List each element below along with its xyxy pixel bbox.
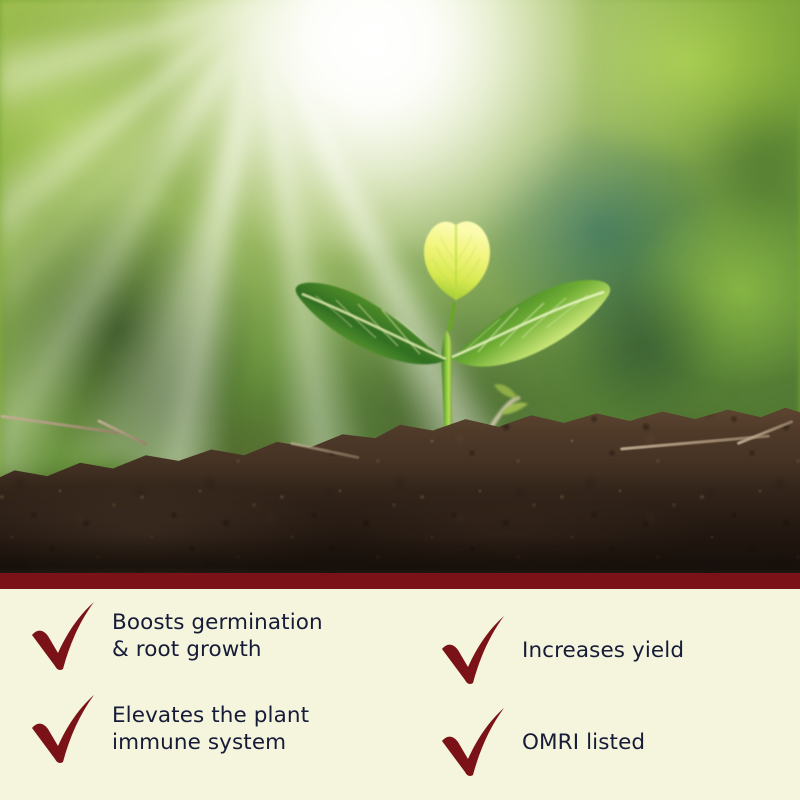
soil-shadow	[0, 463, 800, 573]
checkmark-icon	[440, 705, 508, 779]
benefit-label: Increases yield	[522, 637, 684, 664]
benefits-column-left: Boosts germination & root growth Elevate…	[30, 589, 410, 800]
benefits-panel: Boosts germination & root growth Elevate…	[0, 589, 800, 800]
benefit-item: Boosts germination & root growth	[30, 599, 323, 673]
checkmark-icon	[30, 692, 98, 766]
twig-left	[0, 415, 119, 435]
benefit-label: Boosts germination & root growth	[112, 609, 323, 663]
benefit-label: OMRI listed	[522, 729, 645, 756]
checkmark-icon	[440, 613, 508, 687]
maroon-divider-bar	[0, 573, 800, 589]
seedling-leaf-left	[296, 283, 446, 365]
seedling-photo	[0, 0, 800, 573]
promo-graphic: Boosts germination & root growth Elevate…	[0, 0, 800, 800]
seedling-leaf-right	[452, 280, 610, 367]
benefit-item: OMRI listed	[440, 705, 645, 779]
benefit-item: Elevates the plant immune system	[30, 692, 309, 766]
benefits-column-right: Increases yield OMRI listed	[440, 589, 790, 800]
soil-bed	[0, 383, 800, 573]
benefit-label: Elevates the plant immune system	[112, 702, 309, 756]
benefit-item: Increases yield	[440, 613, 684, 687]
seedling-leaf-top	[424, 221, 490, 300]
checkmark-icon	[30, 599, 98, 673]
